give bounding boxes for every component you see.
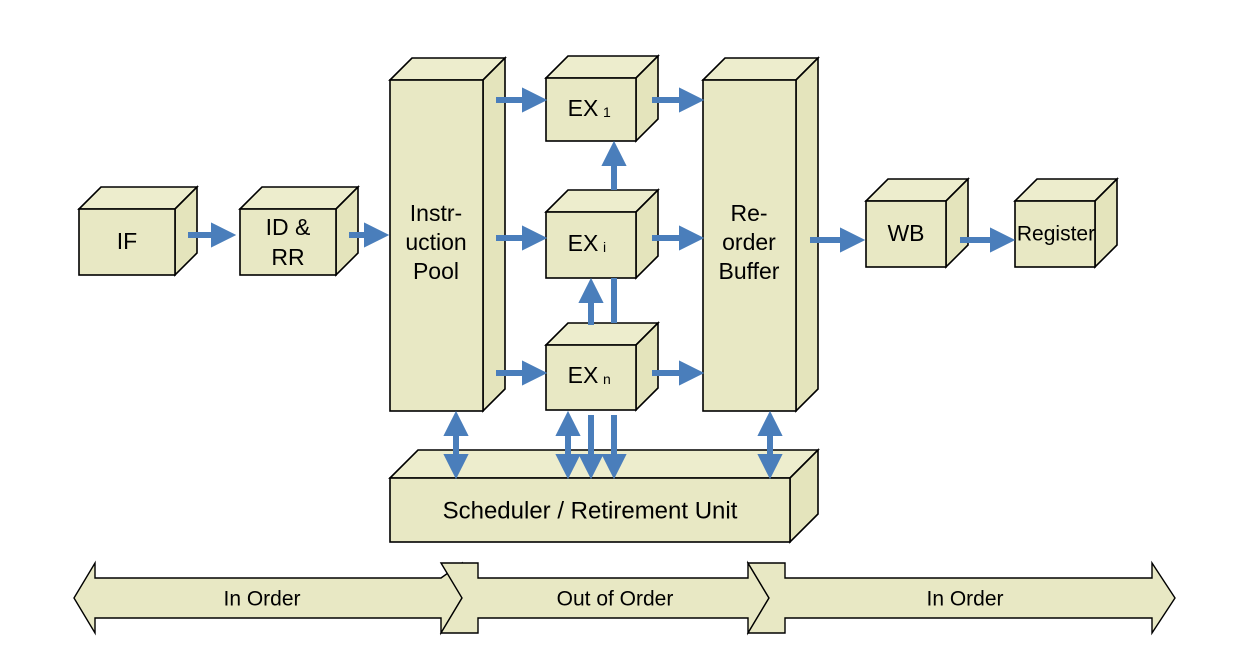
id-rr-box-label-line1: ID & [266, 214, 311, 240]
phase-segment-out-of-order-label: Out of Order [557, 588, 674, 611]
stage-box-register[interactable]: Register [1015, 179, 1117, 267]
ex-1-box-label: EX [568, 95, 599, 121]
ex-1-box-subscript: 1 [603, 104, 611, 120]
reorder-buffer-box-label-line1: Re- [730, 200, 767, 226]
stage-box-reorder-buffer[interactable]: Re- order Buffer [703, 58, 818, 411]
register-box-label: Register [1017, 223, 1095, 246]
stage-box-ex-1[interactable]: EX 1 [546, 56, 658, 141]
instruction-pool-box-side-face [483, 58, 505, 411]
reorder-buffer-box-label-line2: order [722, 229, 776, 255]
stage-box-wb[interactable]: WB [866, 179, 968, 267]
instruction-pool-box-label-line1: Instr- [410, 200, 462, 226]
id-rr-box-label-line2: RR [271, 244, 304, 270]
ex-n-box-label: EX [568, 362, 599, 388]
pipeline-diagram-canvas: IF ID & RR Instr- uction Pool EX 1 [0, 0, 1249, 661]
phase-segment-in-order-back-label: In Order [926, 588, 1003, 611]
reorder-buffer-box-side-face [796, 58, 818, 411]
stage-box-id-rr[interactable]: ID & RR [240, 187, 358, 275]
if-box-label: IF [117, 228, 137, 254]
stage-box-ex-i[interactable]: EX i [546, 190, 658, 278]
stage-box-instruction-pool[interactable]: Instr- uction Pool [390, 58, 505, 411]
ex-n-box-subscript: n [603, 371, 611, 387]
scheduler-box-label: Scheduler / Retirement Unit [443, 497, 738, 524]
stage-box-ex-n[interactable]: EX n [546, 323, 658, 410]
wb-box-label: WB [887, 220, 924, 246]
instruction-pool-box-label-line2: uction [405, 229, 466, 255]
phase-segment-in-order-front-label: In Order [223, 588, 300, 611]
stage-box-if[interactable]: IF [79, 187, 197, 275]
ex-i-box-subscript: i [603, 239, 606, 255]
pipeline-diagram: IF ID & RR Instr- uction Pool EX 1 [0, 0, 1249, 661]
instruction-pool-box-label-line3: Pool [413, 258, 459, 284]
phase-band: In Order Out of Order In Order [74, 563, 1175, 633]
ex-i-box-label: EX [568, 230, 599, 256]
reorder-buffer-box-label-line3: Buffer [719, 258, 780, 284]
